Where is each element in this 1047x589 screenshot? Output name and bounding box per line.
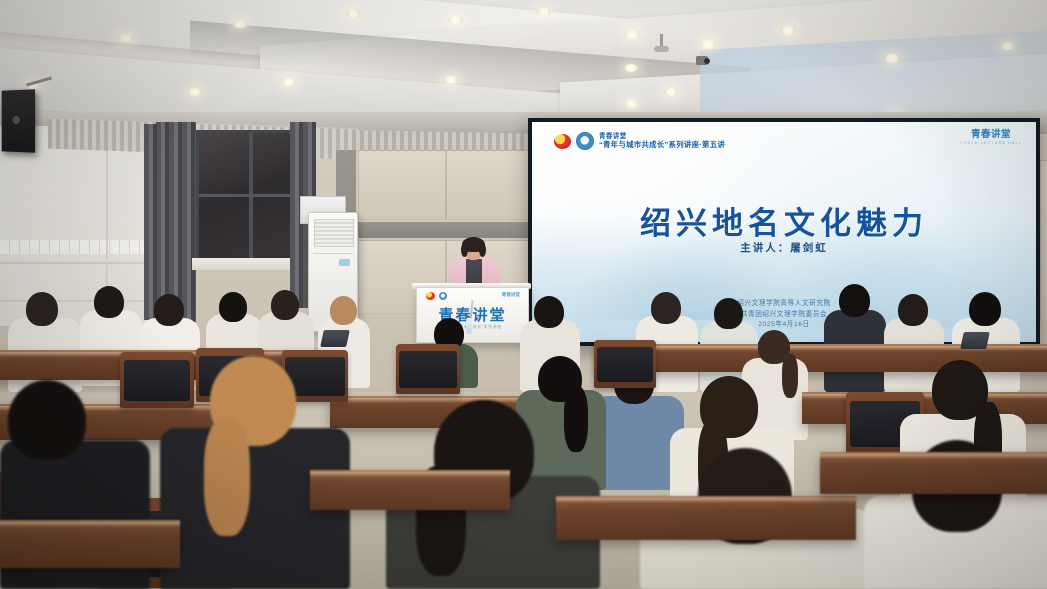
person-head [219, 292, 247, 322]
slide-subtitle: 主讲人：屠剑虹 [532, 240, 1036, 255]
ceiling-downlight [884, 54, 900, 63]
slide-header-text: 青春讲堂 “青年与城市共成长”系列讲座·第五讲 [599, 133, 725, 149]
ceiling-camera-icon [704, 58, 710, 64]
ceiling-downlight [448, 16, 463, 24]
left-wall-tile-strip [0, 240, 158, 254]
communist-youth-league-emblem-icon [426, 292, 435, 300]
ac-seam [313, 253, 353, 254]
ceiling-downlight [664, 88, 678, 96]
desk-row-foreground [820, 452, 1047, 494]
person-head [8, 380, 86, 460]
ceiling-downlight [282, 78, 296, 86]
person-head [94, 286, 124, 318]
window-curtain-left [156, 122, 196, 322]
person-head [154, 294, 184, 326]
ceiling-downlight [780, 26, 796, 35]
ceiling-downlight [118, 34, 134, 42]
person-head [714, 298, 743, 329]
person-head [271, 290, 299, 320]
chair-cushion [399, 351, 457, 388]
desk-row-foreground [556, 496, 856, 540]
window-curtain-far-left [144, 124, 160, 320]
laptop [960, 332, 990, 349]
wall-accent-band [358, 222, 530, 238]
slide-watermark-subtext: YOUTH LECTURE HALL [960, 142, 1022, 146]
ceiling-downlight [536, 8, 551, 16]
university-seal-icon [576, 132, 594, 150]
speaker-cone-icon [12, 116, 19, 124]
ceiling-downlight [346, 10, 361, 18]
ac-grill-icon [314, 219, 354, 247]
laptop [320, 330, 350, 347]
slide-header: 青春讲堂 “青年与城市共成长”系列讲座·第五讲 [554, 132, 725, 150]
person-ponytail [204, 418, 250, 536]
communist-youth-league-emblem-icon [554, 134, 571, 149]
window-mullion [249, 133, 253, 265]
wall-speaker [2, 89, 35, 152]
ceiling-downlight [624, 64, 638, 72]
left-wall-seam [0, 262, 158, 264]
podium-logos [426, 292, 447, 300]
slide-header-line2: “青年与城市共成长”系列讲座·第五讲 [599, 141, 725, 149]
desk-row-foreground [0, 520, 180, 568]
ceiling-downlight [624, 100, 639, 108]
slide-watermark-text: 青春讲堂 [960, 130, 1022, 140]
ceiling-downlight [188, 88, 202, 96]
university-seal-icon [439, 292, 447, 300]
person-head [534, 296, 564, 328]
person-head [651, 292, 681, 324]
lecture-hall-scene: 青春讲堂 “青年与城市共成长”系列讲座·第五讲 青春讲堂 YOUTH LECTU… [0, 0, 1047, 589]
chair [396, 344, 460, 394]
audience-person [824, 284, 886, 392]
ceiling-downlight [444, 76, 458, 84]
wall-panel [358, 150, 446, 220]
presenter-hair [479, 243, 486, 257]
ceiling-downlight [1000, 42, 1015, 50]
person-head [839, 284, 870, 317]
ac-badge [339, 259, 350, 266]
ceiling-downlight [232, 20, 248, 28]
person-head [969, 292, 1001, 326]
person-head [898, 294, 928, 326]
slide-title: 绍兴地名文化魅力 [532, 198, 1036, 243]
podium-watermark: 青春讲堂 [502, 292, 520, 298]
ceiling-downlight [624, 30, 640, 39]
wall-panel [446, 150, 532, 220]
ceiling-projector-mount [654, 46, 669, 52]
person-head [330, 296, 357, 325]
presenter-hair [461, 243, 468, 257]
ceiling-downlight [700, 40, 716, 49]
slide-watermark-logo: 青春讲堂 YOUTH LECTURE HALL [960, 130, 1022, 145]
desk-row-foreground [310, 470, 510, 510]
wall-panel [1040, 160, 1047, 322]
person-head [26, 292, 58, 326]
